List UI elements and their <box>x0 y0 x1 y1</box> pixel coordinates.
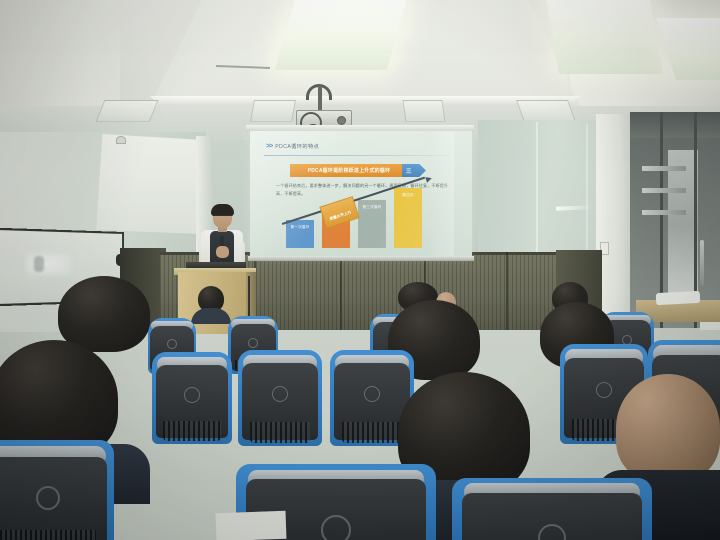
ceiling-light-center-icon <box>545 0 663 74</box>
slide-banner: PDCA循环是阶梯跃进上升式的循环 <box>290 164 408 177</box>
glass-door-handle[interactable] <box>700 240 704 286</box>
slide-header-text: PDCA循环的特点 <box>275 143 319 150</box>
chair-emblem-icon <box>248 338 258 348</box>
chevron-right-icon: >> <box>266 143 272 150</box>
chart-bar-1: 第一次循环 <box>286 220 314 248</box>
slide-header-rule <box>264 155 450 156</box>
glass-shelf-1 <box>642 166 686 171</box>
slide-body-line-1: 一个循环结束后，要求整体进一步，解决问题的另一个循环。周而复始，循环往复，不断提… <box>276 183 448 189</box>
projector-mount <box>318 86 322 112</box>
chair-emblem-icon <box>321 515 351 540</box>
attendee-head-face <box>616 374 720 482</box>
conference-room-photo: >> PDCA循环的特点 PDCA循环是阶梯跃进上升式的循环 三 一个循环结束后… <box>0 0 720 540</box>
chart-bar-label-1: 第一次循环 <box>286 225 314 230</box>
chart-trend-arrow-head-icon <box>425 175 433 183</box>
chair-r2-2[interactable] <box>238 350 322 446</box>
chair-r2-1[interactable] <box>152 352 232 444</box>
chart-bar-label-4: 第四次 <box>394 193 422 198</box>
whiteboard-reflected-figure <box>34 256 44 272</box>
presenter-hands <box>216 246 229 258</box>
presenter-glasses-icon <box>214 215 231 219</box>
chair-emblem-icon <box>184 387 200 403</box>
slide-banner-text: PDCA循环是阶梯跃进上升式的循环 <box>308 167 391 174</box>
chart-annotation-text: 质量水平上升 <box>329 210 352 221</box>
chair-emblem-icon <box>596 382 612 398</box>
chair-r3-1[interactable] <box>0 440 114 540</box>
left-wall-panel <box>96 134 204 234</box>
screen-roller-bar <box>248 256 474 261</box>
slide-content: >> PDCA循环的特点 PDCA循环是阶梯跃进上升式的循环 三 一个循环结束后… <box>250 131 472 256</box>
chart-annotation-tag: 质量水平上升 <box>319 196 359 229</box>
chart-bar-label-3: 第三次循环 <box>358 205 386 210</box>
glass-shelf-3 <box>642 210 686 215</box>
attendee-far-center <box>198 286 224 316</box>
chair-r3-3[interactable] <box>452 478 652 540</box>
slide-header: >> PDCA循环的特点 <box>266 143 319 150</box>
glass-shelf-2 <box>642 188 686 193</box>
ceiling-light-left-icon <box>275 0 409 70</box>
side-table-papers <box>656 291 701 305</box>
air-vent-icon-3 <box>402 100 445 122</box>
projector-lens-icon <box>337 116 346 125</box>
slide-banner-cap: 三 <box>402 164 426 177</box>
chair-slats <box>342 422 402 443</box>
chair-slats <box>163 421 221 441</box>
ceiling-sensor-icon <box>116 136 126 144</box>
paneling-seam-4 <box>506 252 508 330</box>
foreground-paper <box>216 511 287 540</box>
air-vent-icon-1 <box>96 100 159 122</box>
air-vent-icon-2 <box>250 100 296 122</box>
chair-emblem-icon <box>36 486 60 510</box>
chart-bar-4: 第四次 <box>394 188 422 248</box>
whiteboard-reflection <box>26 252 72 276</box>
chair-slats <box>0 530 95 540</box>
slide-body-line-2: 高，不断提高。 <box>276 191 305 197</box>
chart-bar-3: 第三次循环 <box>358 200 386 248</box>
slide-banner-cap-text: 三 <box>406 167 411 175</box>
glass-transom <box>630 112 720 138</box>
chair-slats <box>250 422 310 443</box>
air-vent-icon-4 <box>516 100 576 122</box>
paneling-seam-2 <box>340 252 342 330</box>
